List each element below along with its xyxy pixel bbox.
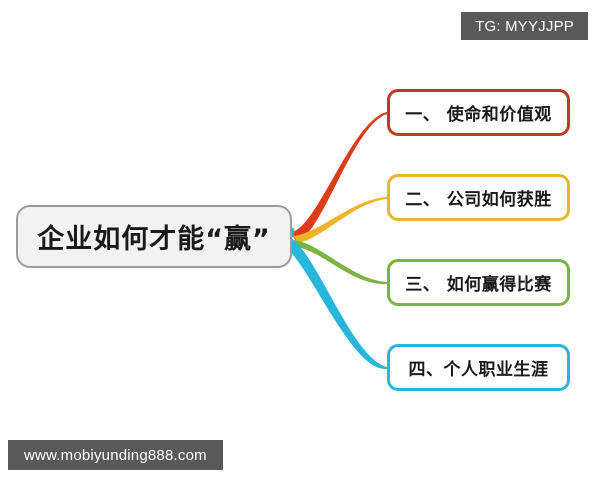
branch-node-label: 三、 如何赢得比赛	[405, 270, 551, 295]
branch-node-mission-values[interactable]: 一、 使命和价值观	[387, 89, 570, 136]
branch-node-label: 二、 公司如何获胜	[405, 185, 551, 210]
connector-branch-1	[292, 112, 387, 243]
website-watermark-badge: www.mobiyunding888.com	[8, 440, 223, 470]
branch-node-label: 一、 使命和价值观	[405, 100, 551, 125]
branch-node-how-company-wins[interactable]: 二、 公司如何获胜	[387, 174, 570, 221]
connector-branch-4	[283, 238, 387, 369]
telegram-watermark-badge: TG: MYYJJPP	[461, 12, 588, 40]
branch-node-label: 四、个人职业生涯	[409, 355, 549, 380]
connector-branch-3	[294, 240, 387, 284]
root-node-label: 企业如何才能“赢”	[37, 217, 271, 256]
connector-branch-2	[294, 197, 387, 243]
root-node[interactable]: 企业如何才能“赢”	[16, 205, 292, 268]
branch-node-personal-career[interactable]: 四、个人职业生涯	[387, 344, 570, 391]
mindmap-canvas: 企业如何才能“赢” 一、 使命和价值观 二、 公司如何获胜 三、 如何赢得比赛 …	[0, 0, 600, 480]
branch-node-how-to-win-race[interactable]: 三、 如何赢得比赛	[387, 259, 570, 306]
